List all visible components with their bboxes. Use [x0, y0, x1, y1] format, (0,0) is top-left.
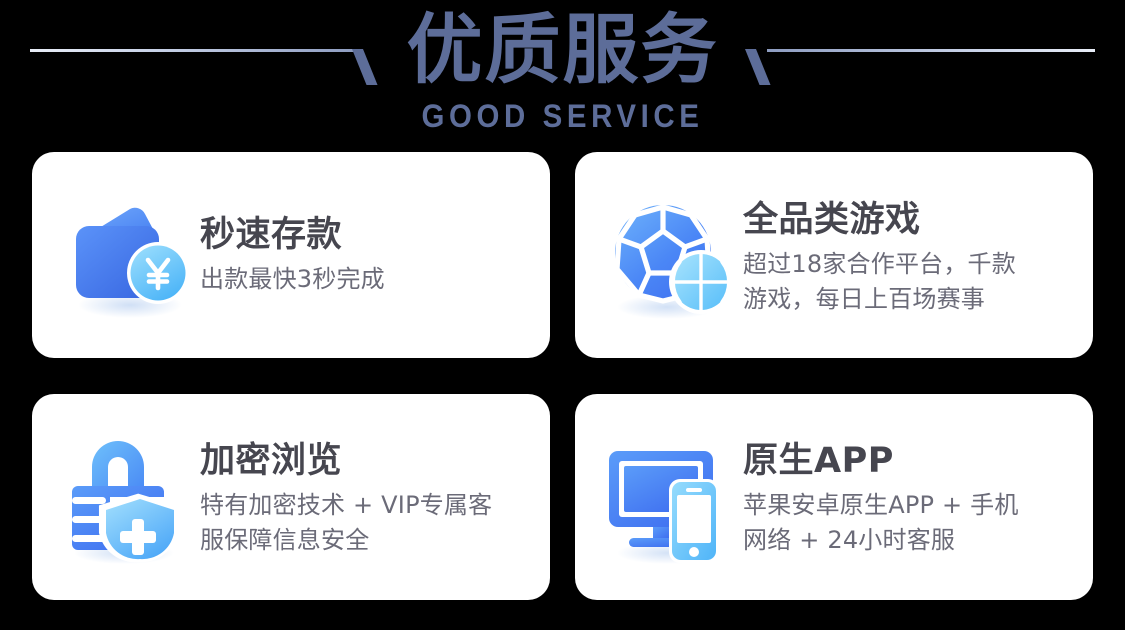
monitor-phone-icon [601, 427, 739, 567]
wallet-yen-icon [58, 185, 196, 325]
feature-card-native-app[interactable]: 原生APP 苹果安卓原生APP + 手机 网络 + 24小时客服 [575, 394, 1093, 600]
card-subtitle: 出款最快3秒完成 [200, 262, 532, 297]
page-title: 优质服务 [0, 6, 1125, 94]
card-subtitle-line: 特有加密技术 + VIP专属客 [200, 488, 532, 523]
card-subtitle: 超过18家合作平台，千款 游戏，每日上百场赛事 [743, 247, 1075, 317]
card-subtitle-line: 游戏，每日上百场赛事 [743, 282, 1075, 317]
card-text-block: 原生APP 苹果安卓原生APP + 手机 网络 + 24小时客服 [739, 437, 1075, 558]
lock-shield-icon [58, 427, 196, 567]
card-text-block: 全品类游戏 超过18家合作平台，千款 游戏，每日上百场赛事 [739, 194, 1075, 317]
page-subtitle: GOOD SERVICE [45, 98, 1080, 134]
card-subtitle-line: 苹果安卓原生APP + 手机 [743, 488, 1075, 523]
card-title: 秒速存款 [200, 213, 532, 257]
card-text-block: 加密浏览 特有加密技术 + VIP专属客 服保障信息安全 [196, 437, 532, 558]
feature-card-grid: 秒速存款 出款最快3秒完成 [32, 152, 1093, 600]
card-subtitle-line: 服保障信息安全 [200, 523, 532, 558]
feature-card-instant-deposit[interactable]: 秒速存款 出款最快3秒完成 [32, 152, 550, 358]
soccer-basketball-icon [601, 185, 739, 325]
card-title: 加密浏览 [200, 439, 532, 483]
card-subtitle: 苹果安卓原生APP + 手机 网络 + 24小时客服 [743, 488, 1075, 558]
promo-banner: 优质服务 GOOD SERVICE [0, 0, 1125, 630]
card-subtitle: 特有加密技术 + VIP专属客 服保障信息安全 [200, 488, 532, 558]
feature-card-encrypted-browsing[interactable]: 加密浏览 特有加密技术 + VIP专属客 服保障信息安全 [32, 394, 550, 600]
card-subtitle-line: 出款最快3秒完成 [200, 262, 532, 297]
card-subtitle-line: 网络 + 24小时客服 [743, 523, 1075, 558]
card-subtitle-line: 超过18家合作平台，千款 [743, 247, 1075, 282]
card-title: 原生APP [743, 439, 1075, 483]
card-title: 全品类游戏 [743, 198, 1075, 242]
card-text-block: 秒速存款 出款最快3秒完成 [196, 213, 532, 297]
banner-header: 优质服务 GOOD SERVICE [0, 0, 1125, 145]
feature-card-all-games[interactable]: 全品类游戏 超过18家合作平台，千款 游戏，每日上百场赛事 [575, 152, 1093, 358]
